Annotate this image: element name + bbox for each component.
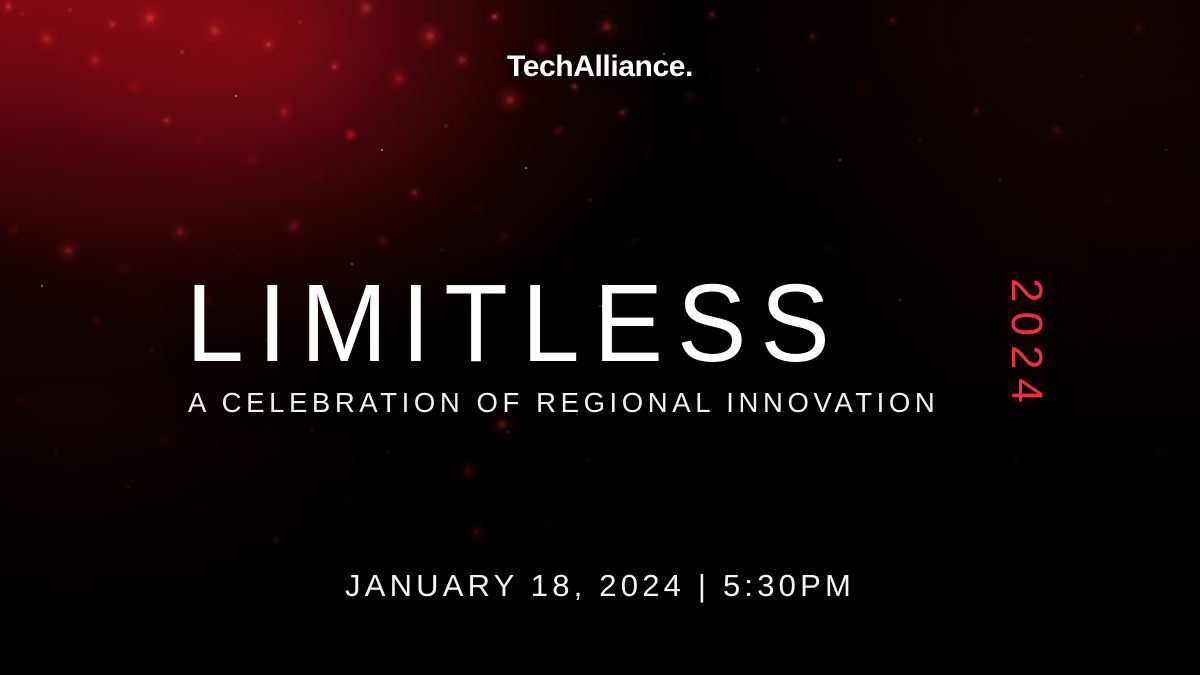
page-title: LIMITLESS	[186, 272, 1036, 378]
event-year: 2024	[1004, 278, 1048, 412]
poster-content: TechAlliance. LIMITLESS A CELEBRATION OF…	[0, 0, 1200, 675]
event-datetime: JANUARY 18, 2024 | 5:30PM	[0, 568, 1200, 604]
event-subtitle: A CELEBRATION OF REGIONAL INNOVATION	[188, 387, 1036, 419]
techalliance-logo: TechAlliance.	[0, 52, 1200, 82]
event-poster: TechAlliance. LIMITLESS A CELEBRATION OF…	[0, 0, 1200, 675]
title-block: LIMITLESS A CELEBRATION OF REGIONAL INNO…	[186, 272, 1036, 419]
